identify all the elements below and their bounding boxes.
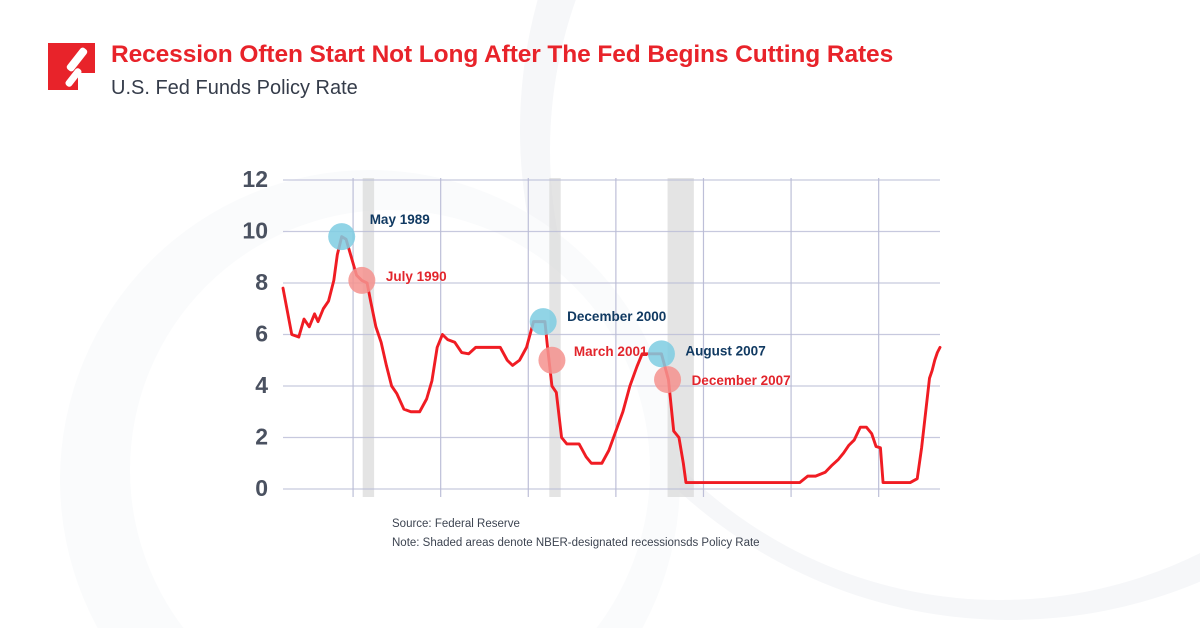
y-tick-12: 12 (242, 166, 268, 192)
page-subtitle: U.S. Fed Funds Policy Rate (111, 76, 893, 100)
marker-december-2000[interactable] (530, 308, 557, 335)
y-tick-4: 4 (255, 372, 268, 398)
y-tick-0: 0 (255, 475, 268, 501)
vertical-gridlines (353, 178, 879, 497)
y-tick-6: 6 (255, 321, 268, 347)
annotation-label-july-1990: July 1990 (386, 269, 447, 284)
policy-rate-line (283, 237, 940, 483)
footnote-block: Source: Federal Reserve Note: Shaded are… (392, 515, 760, 553)
recession-2001 (549, 178, 560, 497)
marker-july-1990[interactable] (348, 267, 375, 294)
y-tick-10: 10 (242, 218, 268, 244)
annotation-labels: May 1989July 1990December 2000March 2001… (370, 212, 791, 388)
marker-december-2007[interactable] (654, 366, 681, 393)
annotation-label-december-2000: December 2000 (567, 309, 666, 324)
annotation-label-august-2007: August 2007 (685, 343, 765, 358)
y-axis-tick-labels: 024681012 (242, 166, 268, 501)
source-text: Source: Federal Reserve (392, 515, 760, 534)
annotation-markers (328, 223, 681, 393)
page-title: Recession Often Start Not Long After The… (111, 41, 893, 69)
annotation-label-december-2007: December 2007 (692, 373, 791, 388)
y-tick-2: 2 (255, 424, 268, 450)
note-text: Note: Shaded areas denote NBER-designate… (392, 534, 760, 553)
company-logo-icon (48, 43, 95, 90)
marker-august-2007[interactable] (648, 340, 675, 367)
chart-header: Recession Often Start Not Long After The… (48, 40, 893, 100)
series-line (283, 237, 940, 483)
y-tick-8: 8 (255, 269, 268, 295)
annotation-label-may-1989: May 1989 (370, 212, 430, 227)
marker-march-2001[interactable] (538, 347, 565, 374)
marker-may-1989[interactable] (328, 223, 355, 250)
annotation-label-march-2001: March 2001 (574, 344, 648, 359)
